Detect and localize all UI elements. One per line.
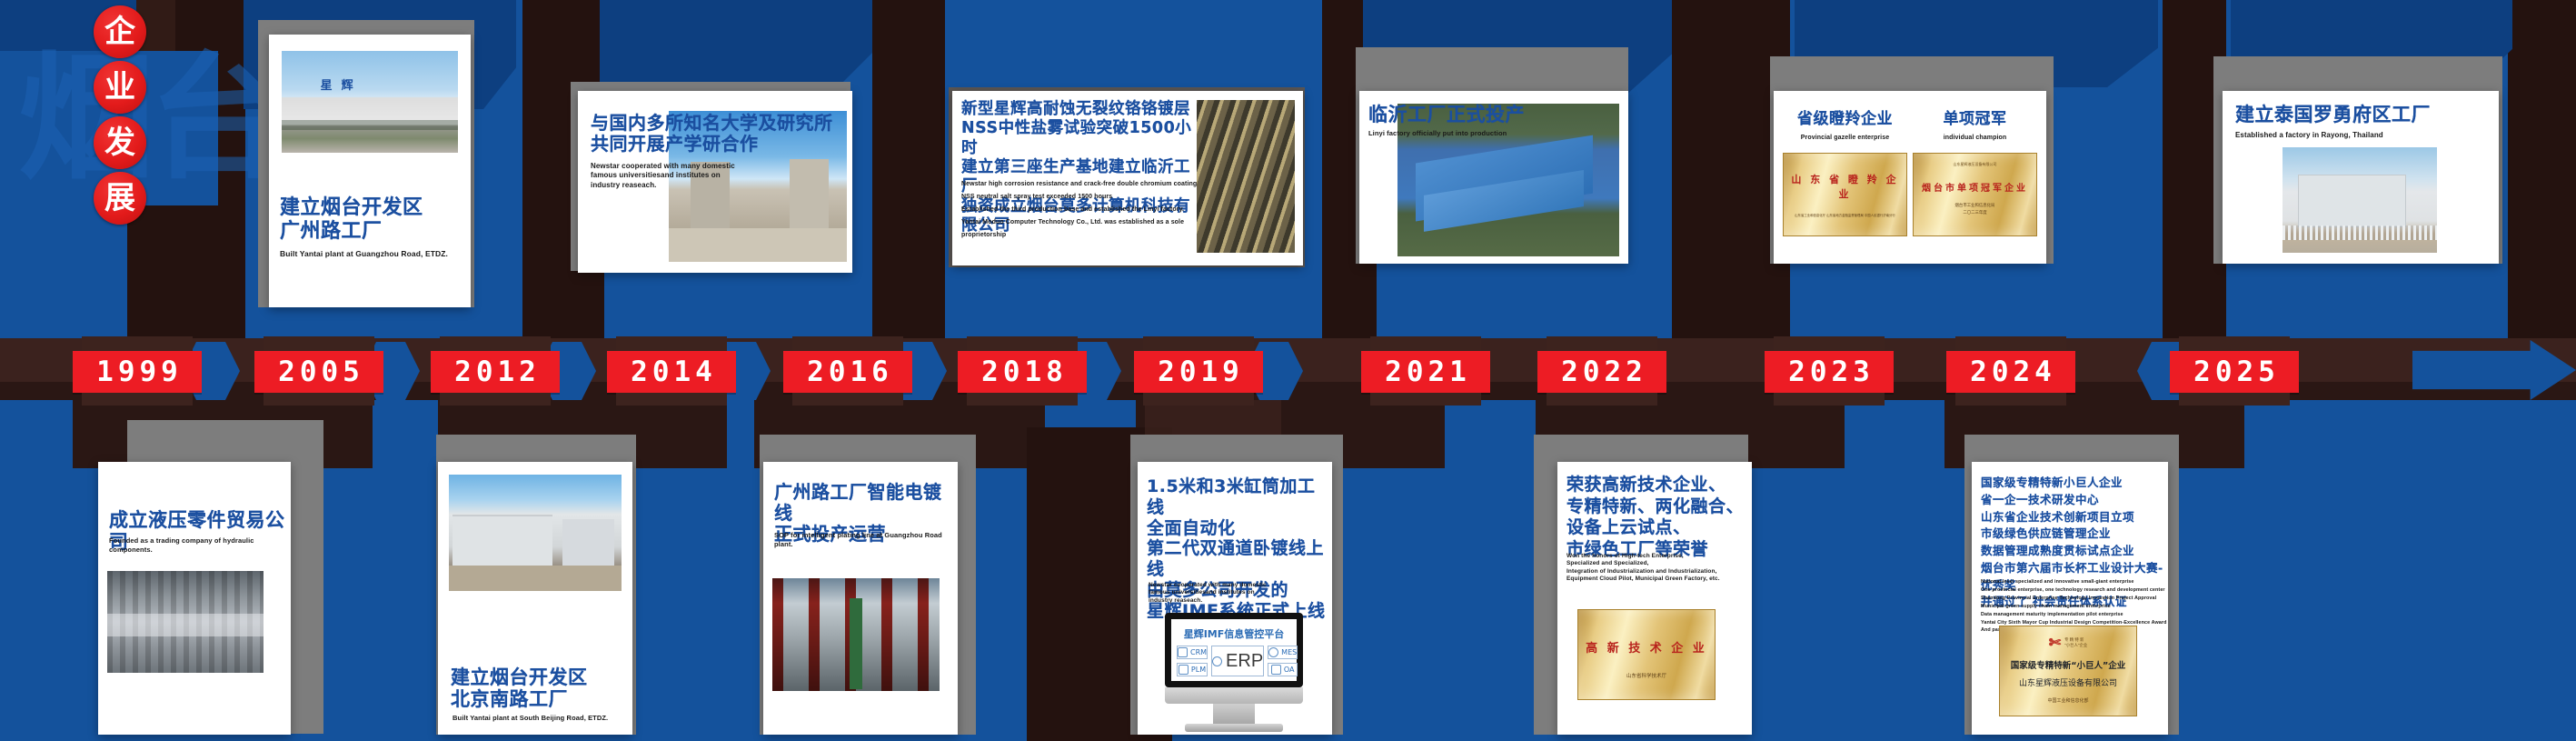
card-photo-2021: [1397, 104, 1619, 256]
milestone-card-2018[interactable]: 广州路工厂智能电镀线 正式投产运营 SOP for intelligent pl…: [763, 462, 958, 735]
timeline-year-2014[interactable]: 2014: [607, 351, 736, 393]
card-plaque-2024: ✄ 专 精 特 新 "小巨人"企业 国家级专精特新“小巨人”企业 山东星辉液压设…: [1999, 626, 2137, 716]
timeline-year-2023[interactable]: 2023: [1765, 351, 1894, 393]
erp-icon: [1212, 656, 1222, 666]
timeline-year-2022[interactable]: 2022: [1537, 351, 1666, 393]
crm-icon: [1178, 647, 1188, 657]
imf-platform-header: 星辉IMF信息管控平台: [1177, 624, 1291, 646]
card-photo-2014: [449, 475, 622, 591]
milestone-card-2016[interactable]: 新型星辉高耐蚀无裂纹铬铬镀层 NSS中性盐雾试验突破1500小时 建立第三座生产…: [952, 91, 1303, 265]
award-block-gazelle: 省级瞪羚企业 Provincial gazelle enterprise 山 东…: [1783, 111, 1907, 253]
plaque-issuer-champion: 烟台市工业和信息化局: [1955, 203, 1995, 208]
card-subtitle-1999: Built Yantai plant at Guangzhou Road, ET…: [280, 249, 460, 259]
card-photo-2018: [772, 578, 940, 691]
plaque-main-hightech: 高 新 技 术 企 业: [1586, 638, 1707, 656]
timeline-year-2012[interactable]: 2012: [431, 351, 560, 393]
plaque-issuer-smallgiant: 中国工业和信息化部: [2047, 697, 2088, 704]
award-subtitle-champion: individual champion: [1913, 134, 2037, 142]
card-photo-2016: [1197, 100, 1295, 253]
card-title-2021: 临沂工厂正式投产: [1368, 104, 1525, 125]
oa-icon: [1271, 665, 1281, 675]
imf-module-erp: ERP: [1211, 646, 1264, 676]
card-subtitle-2019: Newstar cooperated with many domestic fa…: [1149, 582, 1267, 605]
card-photo-2025: [2283, 147, 2437, 253]
card-subtitle-2025: Established a factory in Rayong, Thailan…: [2235, 131, 2383, 140]
plaque-top-champion: 山东星辉液压设备有限公司: [1954, 162, 1997, 167]
milestone-card-2024[interactable]: 国家级专精特新小巨人企业 省一企一技术研发中心 山东省企业技术创新项目立项 市级…: [1972, 462, 2168, 735]
plaque-main-gazelle: 山 东 省 瞪 羚 企 业: [1787, 172, 1903, 201]
card-subtitle-2012: Newstar cooperated with many domestic fa…: [591, 162, 735, 190]
brand-chip-1: 企: [94, 5, 146, 58]
card-title-2022: 荣获高新技术企业、 专精特新、两化融合、 设备上云试点、 市绿色工厂等荣誉: [1566, 475, 1744, 560]
card-diagram-2019: 星辉IMF信息管控平台 CRM PLM ERP MES OA: [1165, 613, 1303, 732]
milestone-card-2005[interactable]: 成立液压零件贸易公司 Founded as a trading company …: [98, 462, 291, 735]
timeline-year-2025[interactable]: 2025: [2170, 351, 2299, 393]
plaque-issuer-hightech: 山东省科学技术厅: [1626, 672, 1666, 679]
card-subtitle-2021: Linyi factory officially put into produc…: [1368, 129, 1507, 138]
mes-icon: [1268, 647, 1278, 657]
plaque-main-smallgiant: 国家级专精特新“小巨人”企业: [2011, 658, 2126, 671]
award-title-champion: 单项冠军: [1913, 111, 2037, 129]
timeline-year-2018[interactable]: 2018: [958, 351, 1087, 393]
card-subtitle-2022: Won the honors of High-tech Enterprise, …: [1566, 553, 1720, 584]
milestone-card-2014[interactable]: 建立烟台开发区 北京南路工厂 Built Yantai plant at Sou…: [438, 462, 632, 735]
imf-module-plm: PLM: [1177, 663, 1208, 676]
award-plaque-champion: 山东星辉液压设备有限公司 烟台市单项冠军企业 烟台市工业和信息化局 二〇二三年度: [1913, 153, 2037, 236]
small-giant-badge: ✄ 专 精 特 新 "小巨人"企业: [2049, 634, 2087, 651]
award-block-champion: 单项冠军 individual champion 山东星辉液压设备有限公司 烟台…: [1913, 111, 2037, 253]
brand-chip-3: 发: [94, 116, 146, 169]
card-title-2014: 建立烟台开发区 北京南路工厂: [451, 666, 588, 711]
card-photo-1999: 星辉: [282, 51, 458, 153]
card-subtitle-2005: Founded as a trading company of hydrauli…: [109, 536, 291, 555]
timeline-year-2005[interactable]: 2005: [254, 351, 383, 393]
award-subtitle-gazelle: Provincial gazelle enterprise: [1783, 134, 1907, 142]
card-plaque-2022: 高 新 技 术 企 业 山东省科学技术厅: [1577, 609, 1716, 700]
small-giant-icon: ✄: [2049, 634, 2061, 651]
timeline-year-2024[interactable]: 2024: [1946, 351, 2075, 393]
timeline-year-2019[interactable]: 2019: [1134, 351, 1263, 393]
award-plaque-gazelle: 山 东 省 瞪 羚 企 业 山东省工业和信息化厅 山东省地方金融监督管理局 中国…: [1783, 153, 1907, 236]
imf-module-crm: CRM: [1177, 646, 1208, 659]
plaque-issuer2-champion: 二〇二三年度: [1963, 210, 1986, 215]
card-title-1999: 建立烟台开发区 广州路工厂: [280, 196, 460, 243]
milestone-card-2022[interactable]: 荣获高新技术企业、 专精特新、两化融合、 设备上云试点、 市绿色工厂等荣誉 Wo…: [1557, 462, 1752, 735]
plaque-issuer-gazelle: 山东省工业和信息化厅 山东省地方金融监督管理局 中国人民银行济南分行: [1795, 214, 1895, 217]
monitor-chin: [1165, 687, 1303, 704]
milestone-card-2025[interactable]: 建立泰国罗勇府区工厂 Established a factory in Rayo…: [2223, 91, 2499, 264]
card-subtitle-2014: Built Yantai plant at South Beijing Road…: [453, 714, 608, 723]
milestone-card-2012[interactable]: 与国内多所知名大学及研究所 共同开展产学研合作 Newstar cooperat…: [578, 91, 852, 273]
timeline-year-2016[interactable]: 2016: [783, 351, 912, 393]
card-title-2012: 与国内多所知名大学及研究所 共同开展产学研合作: [591, 113, 833, 155]
timeline-year-1999[interactable]: 1999: [73, 351, 202, 393]
milestone-card-2019[interactable]: 1.5米和3米缸筒加工线 全面自动化 第二代双通道卧镀线上线 由莫多公司开发的 …: [1138, 462, 1332, 735]
card-subtitle-2018: SOP for intelligent plating line at Guan…: [774, 531, 958, 549]
milestone-card-1999[interactable]: 星辉 建立烟台开发区 广州路工厂 Built Yantai plant at G…: [269, 35, 471, 307]
timeline-bar: 1999 2005 2012 2014 2016 2018 2019 2021 …: [0, 336, 2576, 405]
plaque-main-champion: 烟台市单项冠军企业: [1922, 180, 2028, 194]
milestone-card-2021[interactable]: 临沂工厂正式投产 Linyi factory officially put in…: [1359, 91, 1628, 264]
imf-module-oa: OA: [1268, 663, 1298, 676]
brand-badge-stack: 企 业 发 展: [94, 5, 150, 225]
plaque-company-smallgiant: 山东星辉液压设备有限公司: [2019, 676, 2117, 688]
card-subtitle-2016: Newstar high corrosion resistance and cr…: [961, 178, 1199, 242]
timeline-infographic: 烟台 企 业 发 展 星辉 建立烟台开发区 广州路工厂 Built Yantai…: [0, 0, 2576, 741]
brand-chip-4: 展: [94, 172, 146, 225]
milestone-card-2023[interactable]: 省级瞪羚企业 Provincial gazelle enterprise 山 东…: [1774, 91, 2046, 264]
award-title-gazelle: 省级瞪羚企业: [1783, 111, 1907, 129]
card-photo-2005: [107, 571, 264, 673]
monitor-stand-base: [1185, 724, 1283, 732]
brand-chip-2: 业: [94, 61, 146, 114]
plm-icon: [1179, 665, 1189, 675]
small-giant-badge-label: 专 精 特 新 "小巨人"企业: [2064, 637, 2087, 647]
timeline-end-arrow-icon: [2412, 340, 2576, 400]
timeline-year-2021[interactable]: 2021: [1361, 351, 1490, 393]
monitor-stand-neck: [1213, 704, 1255, 724]
imf-module-mes: MES: [1268, 646, 1298, 659]
card-title-2025: 建立泰国罗勇府区工厂: [2235, 104, 2431, 125]
